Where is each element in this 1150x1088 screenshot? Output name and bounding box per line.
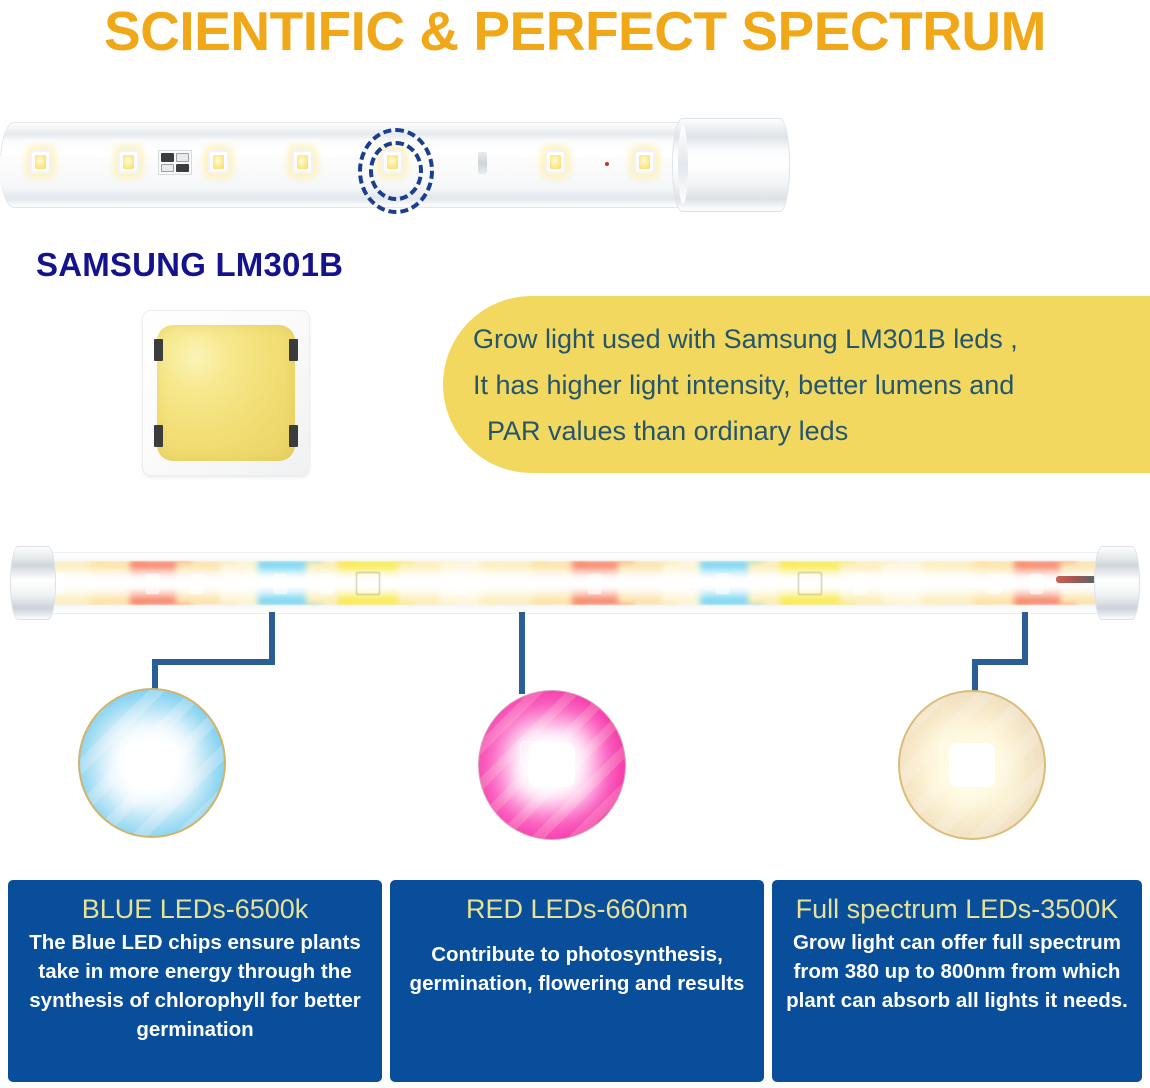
chip-contact-pad <box>289 339 298 361</box>
callout-bubble: Grow light used with Samsung LM301B leds… <box>443 296 1150 473</box>
led-chip-mark <box>854 574 867 594</box>
card-body: Contribute to photosynthesis, germinatio… <box>400 928 754 998</box>
led-chip-mark <box>190 574 203 594</box>
info-card-blue-leds: BLUE LEDs-6500k The Blue LED chips ensur… <box>8 880 382 1082</box>
card-title: RED LEDs-660nm <box>466 890 688 928</box>
led-driver-ic <box>356 572 380 595</box>
connector-line-warm <box>972 659 1028 665</box>
chip-contact-pad <box>154 339 163 361</box>
connector-line-blue <box>152 659 275 665</box>
white-led-chip <box>545 150 566 174</box>
card-title: BLUE LEDs-6500k <box>82 890 309 928</box>
white-led-chip <box>208 150 229 174</box>
white-led-chip <box>30 150 51 174</box>
led-glow-core <box>529 743 575 787</box>
led-solder-pad <box>478 152 487 174</box>
led-glow-core <box>129 741 175 785</box>
info-card-red-leds: RED LEDs-660nm Contribute to photosynthe… <box>390 880 764 1082</box>
blue-led-closeup-photo <box>78 688 226 838</box>
card-body: Grow light can offer full spectrum from … <box>782 928 1132 1015</box>
dashed-circle-highlight-inner-icon <box>369 141 423 201</box>
connector-line-warm <box>972 659 978 693</box>
spectrum-led-segments <box>38 561 1110 605</box>
led-chip-mark <box>454 574 467 594</box>
led-driver-ic <box>158 150 192 175</box>
connector-line-blue <box>269 612 275 664</box>
white-led-chip <box>292 150 313 174</box>
red-led-closeup-photo <box>478 690 626 840</box>
led-chip-mark <box>274 574 287 594</box>
white-led-chip <box>118 150 139 174</box>
chip-contact-pad <box>289 425 298 447</box>
connector-line-warm <box>1022 612 1028 664</box>
led-chip-icon <box>143 311 309 475</box>
connector-line-blue <box>152 659 158 691</box>
led-chip-mark <box>146 574 159 594</box>
spectrum-tube-end-cap-left <box>10 546 56 620</box>
tube-marker-dot <box>605 162 609 166</box>
callout-line-2: It has higher light intensity, better lu… <box>473 362 1124 408</box>
connector-line-red <box>519 612 525 694</box>
tube-end-cap <box>672 118 790 212</box>
led-glow-core <box>949 743 995 787</box>
led-chip-mark <box>988 574 1001 594</box>
led-chip-mark <box>320 574 333 594</box>
title-bar: SCIENTIFIC & PERFECT SPECTRUM <box>0 0 1150 62</box>
led-chip-mark <box>716 574 729 594</box>
led-chip-mark <box>1030 574 1043 594</box>
tube-inner-strip <box>0 156 700 186</box>
page-title: SCIENTIFIC & PERFECT SPECTRUM <box>104 4 1046 59</box>
warm-white-led-closeup-photo <box>898 690 1046 840</box>
callout-line-1: Grow light used with Samsung LM301B leds… <box>473 316 1124 362</box>
chip-contact-pad <box>154 425 163 447</box>
info-card-full-spectrum-leds: Full spectrum LEDs-3500K Grow light can … <box>772 880 1142 1082</box>
white-led-chip <box>634 150 655 174</box>
led-phosphor-surface <box>157 325 295 461</box>
led-driver-ic <box>798 572 822 595</box>
callout-line-3: PAR values than ordinary leds <box>473 408 1124 454</box>
card-body: The Blue LED chips ensure plants take in… <box>18 928 372 1044</box>
spectrum-tube-end-cap-right <box>1094 546 1140 620</box>
info-card-row: BLUE LEDs-6500k The Blue LED chips ensur… <box>8 880 1142 1082</box>
spectrum-led-strip-photo <box>10 546 1140 622</box>
card-title: Full spectrum LEDs-3500K <box>796 890 1119 928</box>
tube-body <box>0 122 700 208</box>
brand-label: SAMSUNG LM301B <box>36 246 343 284</box>
led-chip-mark <box>588 574 601 594</box>
